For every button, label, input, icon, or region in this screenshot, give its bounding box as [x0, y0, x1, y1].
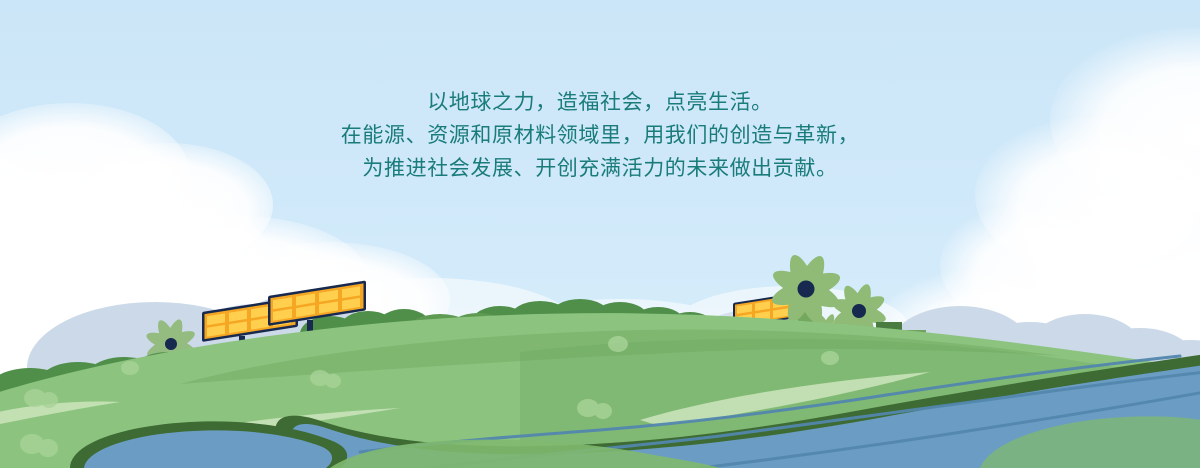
eco-mission-banner: 以地球之力，造福社会，点亮生活。 在能源、资源和原材料领域里，用我们的创造与革新…: [0, 0, 1200, 468]
turbine-hub: [798, 281, 815, 298]
eco-landscape-illustration: [0, 0, 1200, 468]
turbine-hub: [165, 338, 177, 350]
turbine-hub: [852, 304, 866, 318]
